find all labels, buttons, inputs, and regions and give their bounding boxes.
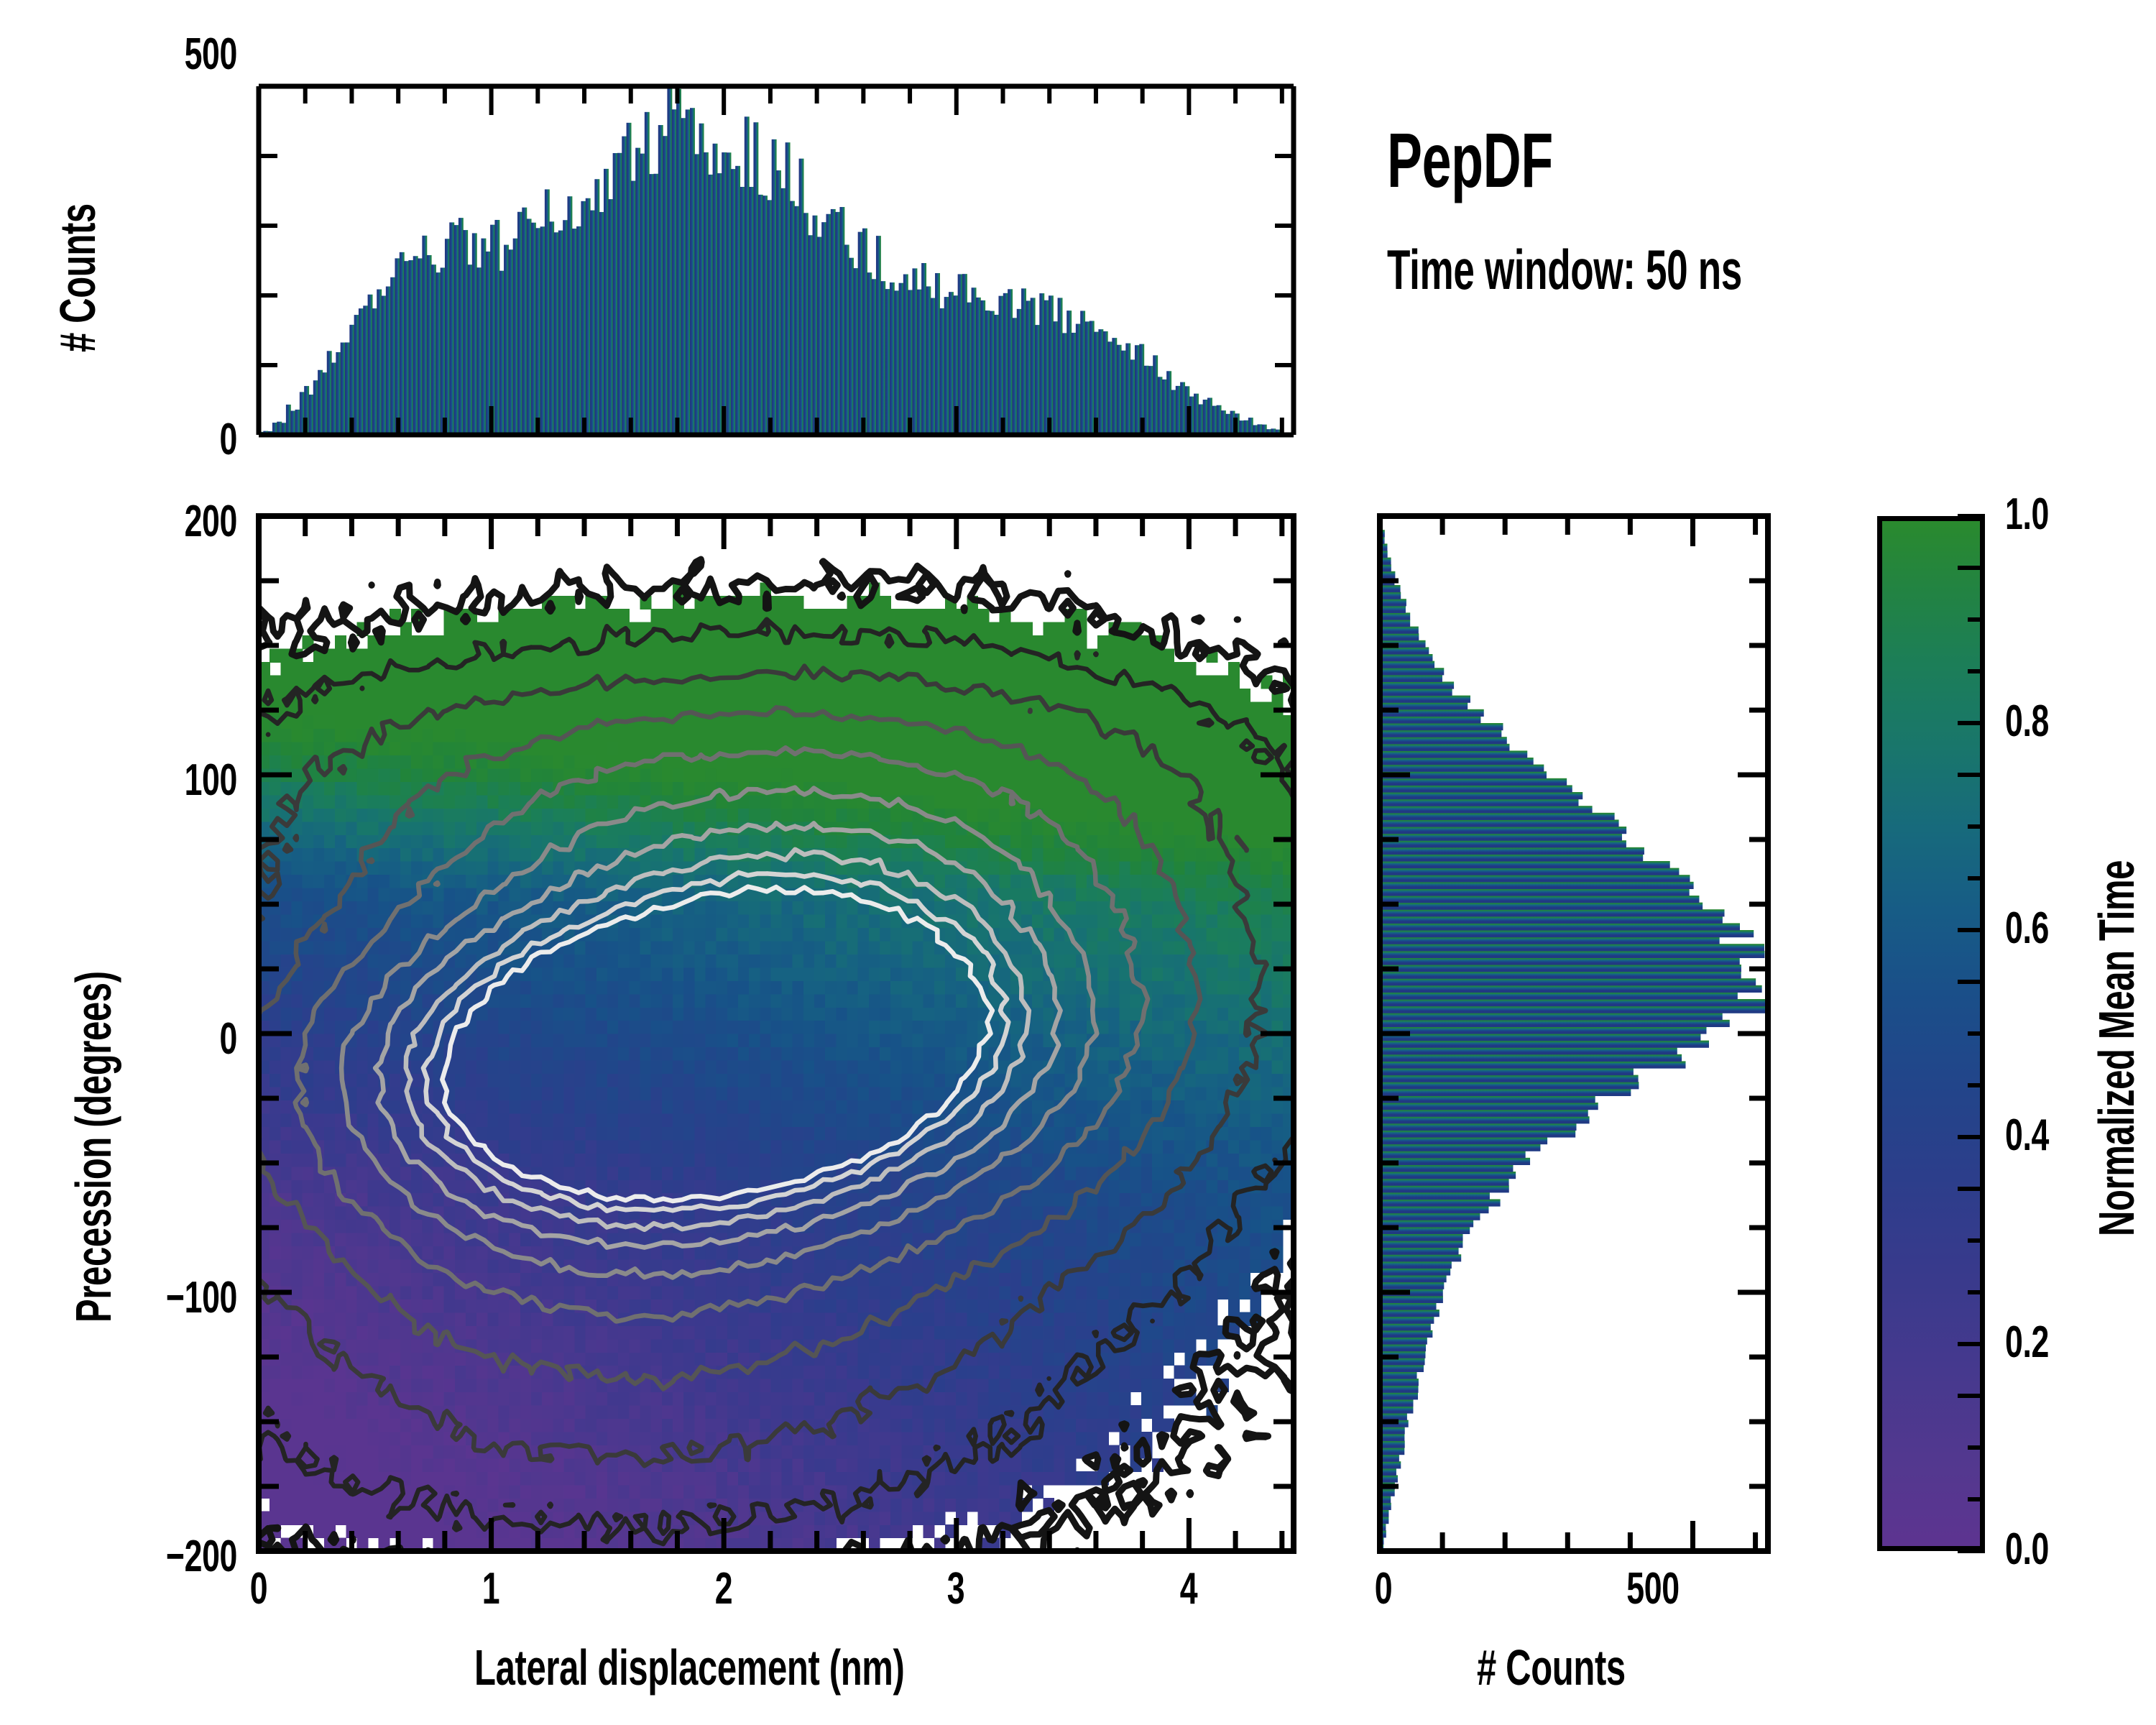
right-xlabel: # Counts <box>1477 1639 1626 1696</box>
colorbar-tick-label-0.6: 0.6 <box>2005 903 2099 954</box>
colorbar-tick-label-0.2: 0.2 <box>2005 1317 2099 1368</box>
top-histogram-bars <box>259 86 1294 435</box>
main-heatmap-svg <box>259 516 1294 1551</box>
colorbar-tick-label-0.8: 0.8 <box>2005 696 2099 747</box>
top-ytick-label-500: 500 <box>129 29 237 80</box>
top-marginal-histogram-panel <box>259 86 1294 435</box>
main-ylabel: Precession (degrees) <box>65 971 122 1322</box>
main-xtick-label-0: 0 <box>223 1563 295 1614</box>
right-xtick-label-500: 500 <box>1596 1563 1710 1614</box>
colorbar-ticks <box>1958 516 1985 1551</box>
top-ytick-label-0: 0 <box>129 414 237 465</box>
right-xtick-label-0: 0 <box>1347 1563 1420 1614</box>
main-xtick-label-1: 1 <box>455 1563 528 1614</box>
right-marginal-histogram-panel <box>1380 516 1768 1551</box>
main-xtick-label-2: 2 <box>688 1563 760 1614</box>
main-xlabel: Lateral displacement (nm) <box>474 1639 904 1696</box>
right-histogram-svg <box>1380 516 1768 1551</box>
main-heatmap-clip <box>259 516 1294 1551</box>
main-ytick-label-100: 100 <box>98 755 237 806</box>
main-xtick-label-4: 4 <box>1153 1563 1225 1614</box>
main-xtick-label-3: 3 <box>920 1563 992 1614</box>
main-joint-panel <box>259 516 1294 1551</box>
colorbar-ticks-svg <box>1877 516 1985 1551</box>
figure-title: PepDF <box>1387 115 1553 205</box>
colorbar-tick-label-0.0: 0.0 <box>2005 1524 2099 1575</box>
figure-canvas: 500 0 # Counts PepDF Time window: 50 ns … <box>0 0 2156 1725</box>
right-histogram-bars <box>1380 516 1767 1552</box>
colorbar-tick-label-1.0: 1.0 <box>2005 489 2099 540</box>
top-ylabel: # Counts <box>49 203 106 352</box>
main-ytick-label-neg200: −200 <box>98 1531 237 1582</box>
colorbar-label: Normalized Mean Time <box>2088 860 2145 1236</box>
colorbar-tick-label-0.4: 0.4 <box>2005 1110 2099 1161</box>
top-histogram-svg <box>259 86 1294 435</box>
main-ytick-label-200: 200 <box>98 496 237 547</box>
figure-subtitle: Time window: 50 ns <box>1387 237 1742 303</box>
